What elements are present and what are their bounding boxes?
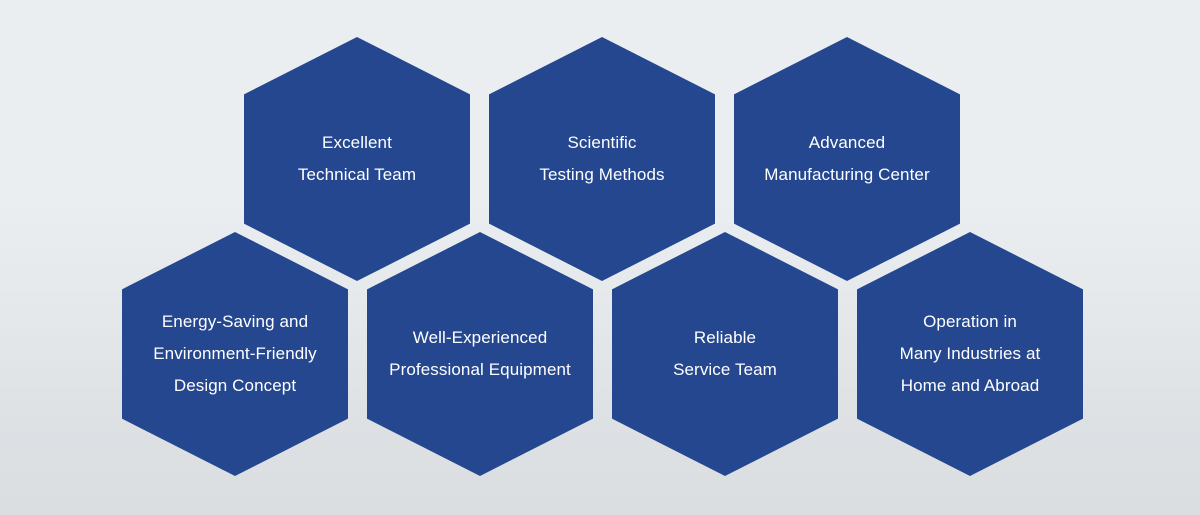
hexagon-tile-technical-team[interactable]: Excellent Technical Team xyxy=(244,37,470,281)
hexagon-infographic: Energy-Saving and Environment-Friendly D… xyxy=(0,0,1200,515)
hexagon-row-top: Excellent Technical Team Scientific Test… xyxy=(0,0,1200,515)
hexagon-tile-manufacturing-center[interactable]: Advanced Manufacturing Center xyxy=(734,37,960,281)
hexagon-tile-label: Advanced Manufacturing Center xyxy=(734,127,960,191)
hexagon-tile-label: Excellent Technical Team xyxy=(244,127,470,191)
hexagon-tile-testing-methods[interactable]: Scientific Testing Methods xyxy=(489,37,715,281)
hexagon-tile-label: Scientific Testing Methods xyxy=(489,127,715,191)
